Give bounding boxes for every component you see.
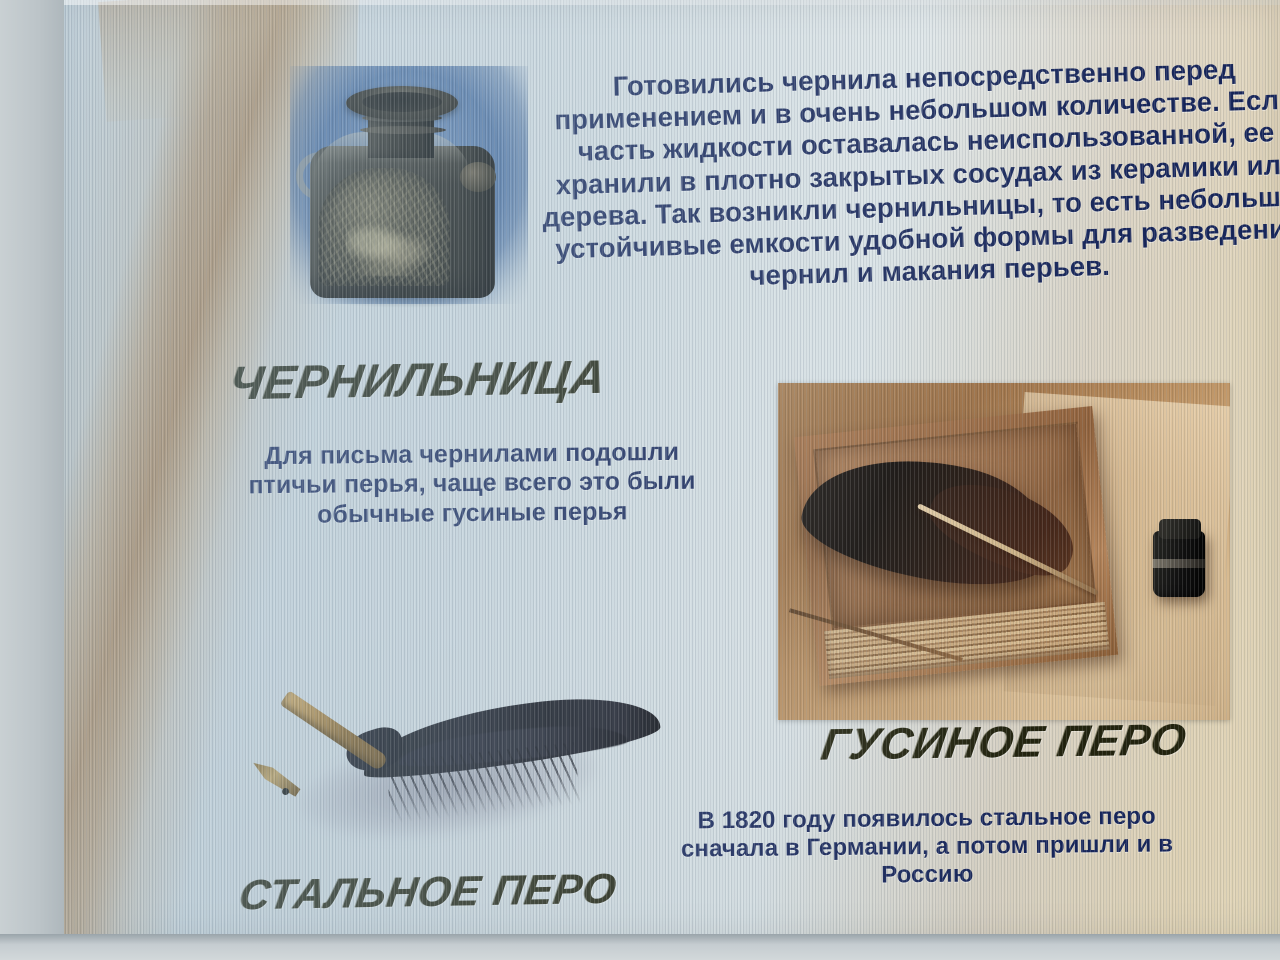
screen-top-glare xyxy=(64,0,1280,5)
quill-photo-ink-bottle-cap xyxy=(1159,519,1201,539)
inkwell-relief-ornament xyxy=(346,220,432,276)
slide-content: Готовились чернила непосредственно перед… xyxy=(62,0,1280,938)
steel-pen-nib xyxy=(249,757,302,799)
heading-steel-pen: СТАЛЬНОЕ ПЕРО xyxy=(237,865,621,920)
wall-left-of-screen xyxy=(0,0,64,960)
inkwell-image xyxy=(290,66,528,318)
quill-pen-image xyxy=(778,383,1230,720)
presentation-slide: Готовились чернила непосредственно перед… xyxy=(62,0,1280,938)
inkwell-side-knob xyxy=(460,162,496,192)
paragraph-steel-pen-history: В 1820 году появилось стальное перо снач… xyxy=(662,802,1193,892)
heading-inkwell: ЧЕРНИЛЬНИЦА xyxy=(226,349,610,411)
inkwell-neck-ring-lower xyxy=(360,126,446,134)
quill-photo-ink-bottle-label xyxy=(1152,559,1206,568)
steel-pen-image xyxy=(238,660,668,870)
wall-below-screen xyxy=(0,934,1280,960)
inkwell-opening xyxy=(362,92,442,112)
paragraph-bird-feathers: Для письма чернилами подошли птичьи перь… xyxy=(237,438,708,531)
photographed-projection-screen: Готовились чернила непосредственно перед… xyxy=(0,0,1280,960)
paragraph-ink-preparation: Готовились чернила непосредственно перед… xyxy=(524,51,1280,298)
steel-pen-nib-vent-hole xyxy=(282,788,289,795)
heading-goose-quill: ГУСИНОЕ ПЕРО xyxy=(818,715,1190,770)
inkwell-decorated-face xyxy=(318,168,450,286)
